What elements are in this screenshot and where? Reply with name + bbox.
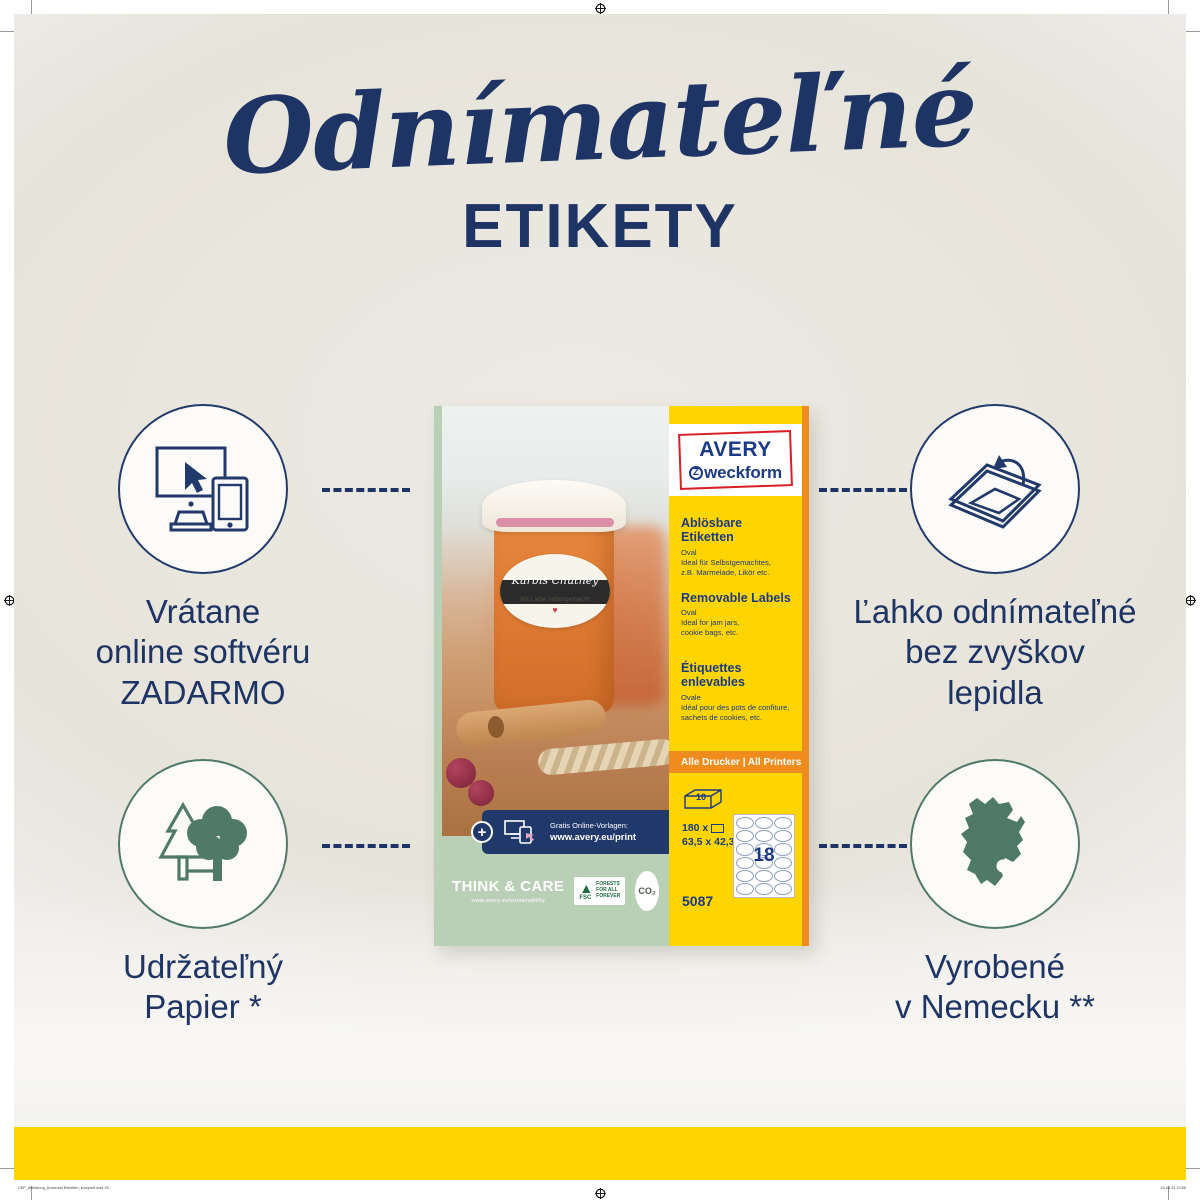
registration-mark-right	[1185, 595, 1196, 606]
wooden-spoon	[455, 698, 608, 747]
cherry	[468, 780, 494, 806]
artboard: Odnímateľné ETIKETY	[14, 14, 1186, 1127]
all-printers-banner: Alle Drucker | All Printers	[669, 751, 802, 773]
monitor-tablet-cursor-icon	[151, 442, 255, 536]
online-banner-url[interactable]: www.avery.eu/print	[550, 832, 636, 843]
peeling-label-icon	[941, 443, 1049, 535]
label-sheet-preview: 18	[733, 814, 795, 898]
language-block-de: Ablösbare Etiketten Oval Ideal für Selbs…	[681, 516, 795, 578]
lang-body: Oval Ideal for jam jars, cookie bags, et…	[681, 608, 795, 638]
feature-easily-removable: Ľahko odnímateľné bez zvyškov lepidla	[830, 404, 1160, 713]
zweckform-wordmark: Z weckform	[689, 463, 782, 483]
crop-mark-bottom-right-h	[1186, 1168, 1200, 1169]
fsc-tree-icon: ▲	[579, 881, 593, 895]
label-shape-icon	[711, 824, 724, 833]
label-oval	[774, 817, 792, 829]
registration-mark-top	[595, 3, 606, 14]
trees-icon	[151, 795, 255, 893]
article-number: 5087	[682, 893, 713, 909]
lang-body: Ovale Idéal pour des pots de confiture, …	[681, 693, 795, 723]
product-package: Kürbis Chutney Mit Liebe selbstgemacht ♥…	[434, 406, 809, 946]
package-info-panel: AVERY Z weckform Ablösbare Etiketten Ova…	[669, 406, 809, 946]
crop-mark-top-right-v	[1168, 0, 1169, 14]
feature-free-online-software: Vrátane online softvéru ZADARMO	[38, 404, 368, 713]
co2-neutral-badge: CO₂	[635, 871, 659, 911]
avery-wordmark: AVERY	[699, 438, 772, 462]
zweckform-text: weckform	[704, 463, 782, 483]
z-circle-icon: Z	[689, 466, 703, 480]
crop-mark-top-left-v	[31, 0, 32, 14]
page-title-script: Odnímateľné	[14, 46, 1186, 200]
fsc-badge: ▲ FSC FORESTS FOR ALL FOREVER	[574, 877, 625, 905]
think-and-care-logo: THINK & CARE www.avery.eu/sustainability	[452, 878, 564, 904]
label-oval	[755, 817, 773, 829]
poster-page: Odnímateľné ETIKETY	[0, 0, 1200, 1200]
bottom-yellow-band	[14, 1127, 1186, 1180]
monitor-tablet-hand-icon	[504, 819, 538, 845]
crop-mark-bottom-left-h	[0, 1168, 14, 1169]
feature-sustainable-paper: Udržateľný Papier *	[38, 759, 368, 1028]
feature-made-in-germany: Vyrobené v Nemecku **	[830, 759, 1160, 1028]
label-oval	[774, 830, 792, 842]
fsc-slogan: FORESTS FOR ALL FOREVER	[596, 882, 620, 899]
rope	[537, 738, 669, 776]
feature-caption: Udržateľný Papier *	[38, 947, 368, 1028]
sustainability-url: www.avery.eu/sustainability	[452, 898, 564, 904]
label-oval	[736, 870, 754, 882]
crop-mark-top-right-h	[1186, 31, 1200, 32]
sheets-count: 10	[696, 792, 706, 802]
jar-ribbon	[496, 518, 614, 527]
feature-caption: Vrátane online softvéru ZADARMO	[38, 592, 368, 713]
label-oval	[774, 883, 792, 895]
plus-icon: +	[471, 821, 493, 843]
label-oval	[774, 843, 792, 855]
print-slug-timestamp: 04.05.23 10:56	[1161, 1186, 1186, 1190]
label-oval	[755, 830, 773, 842]
label-oval	[736, 843, 754, 855]
feature-icon-circle	[910, 759, 1080, 929]
label-oval	[736, 817, 754, 829]
avery-zweckform-logo: AVERY Z weckform	[669, 424, 802, 496]
lang-heading: Ablösbare Etiketten	[681, 516, 795, 545]
language-block-fr: Étiquettes enlevables Ovale Idéal pour d…	[681, 661, 795, 723]
registration-mark-bottom	[595, 1188, 606, 1199]
think-and-care-text: THINK & CARE	[452, 878, 564, 895]
feature-icon-circle	[118, 759, 288, 929]
jam-jar-photo: Kürbis Chutney Mit Liebe selbstgemacht ♥	[442, 406, 669, 838]
feature-caption: Vyrobené v Nemecku **	[830, 947, 1160, 1028]
online-banner-text: Gratis Online-Vorlagen:	[550, 821, 636, 831]
package-photo-panel: Kürbis Chutney Mit Liebe selbstgemacht ♥…	[434, 406, 669, 946]
feature-icon-circle	[118, 404, 288, 574]
online-templates-banner[interactable]: + Gratis Online-Vorlagen: www.avery.eu/p…	[482, 810, 669, 854]
crop-mark-top-left-h	[0, 31, 14, 32]
lang-heading: Removable Labels	[681, 591, 795, 605]
lang-body: Oval Ideal für Selbstgemachtes, z.B. Mar…	[681, 548, 795, 578]
label-oval	[736, 883, 754, 895]
label-tagline: Mit Liebe selbstgemacht	[520, 597, 589, 603]
labels-per-sheet-count: 18	[753, 845, 774, 867]
feature-icon-circle	[910, 404, 1080, 574]
language-block-en: Removable Labels Oval Ideal for jam jars…	[681, 591, 795, 638]
germany-map-icon	[947, 792, 1043, 896]
label-oval	[736, 830, 754, 842]
dimensions-value: 63,5 x 42,3	[682, 836, 735, 848]
oval-jar-label: Kürbis Chutney Mit Liebe selbstgemacht ♥	[500, 554, 610, 628]
label-product-name: Kürbis Chutney	[512, 569, 599, 593]
lang-heading: Étiquettes enlevables	[681, 661, 795, 690]
heart-icon: ♥	[552, 605, 557, 615]
label-oval	[755, 883, 773, 895]
label-oval	[774, 857, 792, 869]
page-title-sub: ETIKETY	[14, 191, 1186, 262]
print-slug-filename: USP_Abbildung_Universal Etiketten_komple…	[18, 1186, 109, 1190]
label-oval	[736, 857, 754, 869]
quantity-value: 180 x	[682, 822, 708, 834]
label-oval	[774, 870, 792, 882]
fsc-abbreviation: FSC	[579, 895, 593, 901]
sheet-stack-icon: 10	[683, 788, 723, 810]
feature-caption: Ľahko odnímateľné bez zvyškov lepidla	[830, 592, 1160, 713]
label-oval	[755, 870, 773, 882]
headline: Odnímateľné ETIKETY	[14, 68, 1186, 262]
